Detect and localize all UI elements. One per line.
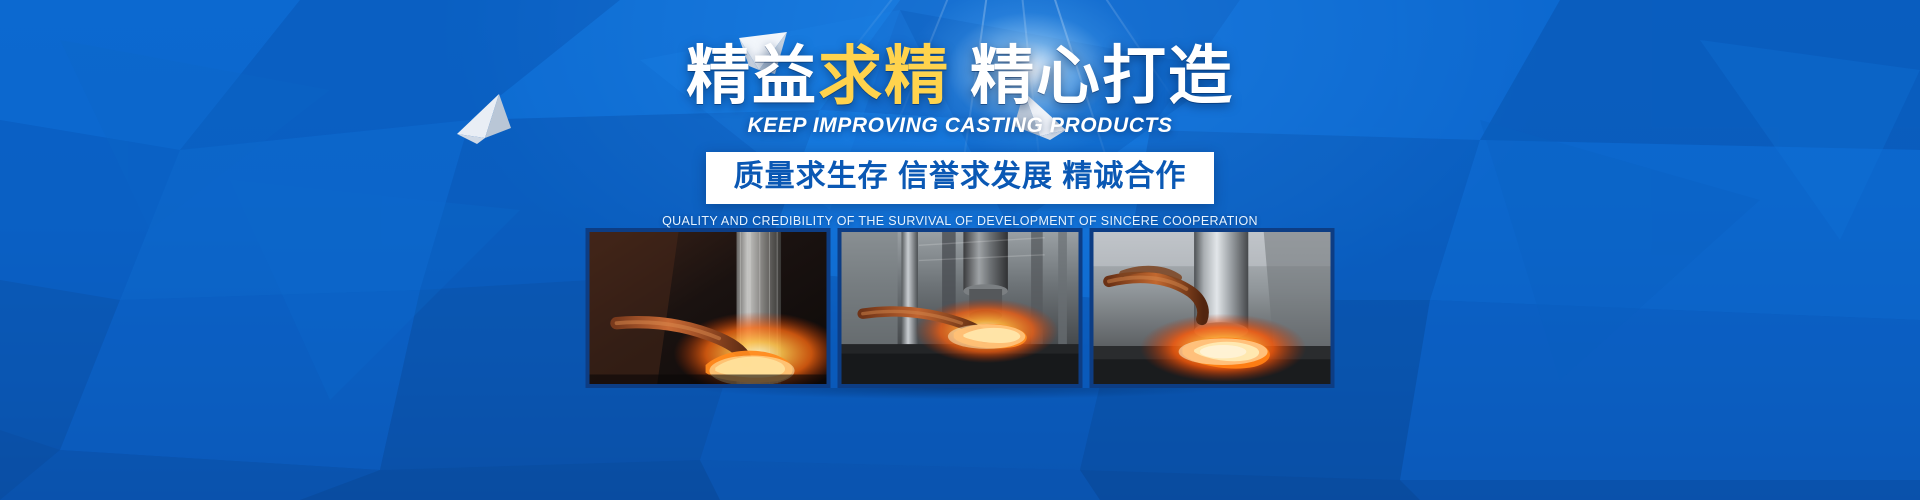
photo-strip [586,228,1335,388]
headline-part-3: 精心打造 [970,40,1234,112]
slogan-box: 质量求生存 信誉求发展 精诚合作 [706,152,1215,203]
headline: 精益求精精心打造 [0,44,1920,109]
promo-banner: 精益求精精心打造 KEEP IMPROVING CASTING PRODUCTS… [0,0,1920,500]
tagline-english: QUALITY AND CREDIBILITY OF THE SURVIVAL … [0,214,1920,228]
headline-part-1: 精益 [686,40,818,112]
subtitle-english: KEEP IMPROVING CASTING PRODUCTS [0,114,1920,138]
photo-induction-heated-steel-cylinder-glow [1090,228,1335,388]
banner-text-block: 精益求精精心打造 KEEP IMPROVING CASTING PRODUCTS… [0,44,1920,228]
photo-induction-hardening-machine-workpiece [838,228,1083,388]
slogan-chinese: 质量求生存 信誉求发展 精诚合作 [734,159,1187,194]
photo-induction-heating-coil-red-hot-ring [586,228,831,388]
headline-part-2-accent: 求精 [818,40,950,112]
photo-strip-shadow [580,388,1340,404]
